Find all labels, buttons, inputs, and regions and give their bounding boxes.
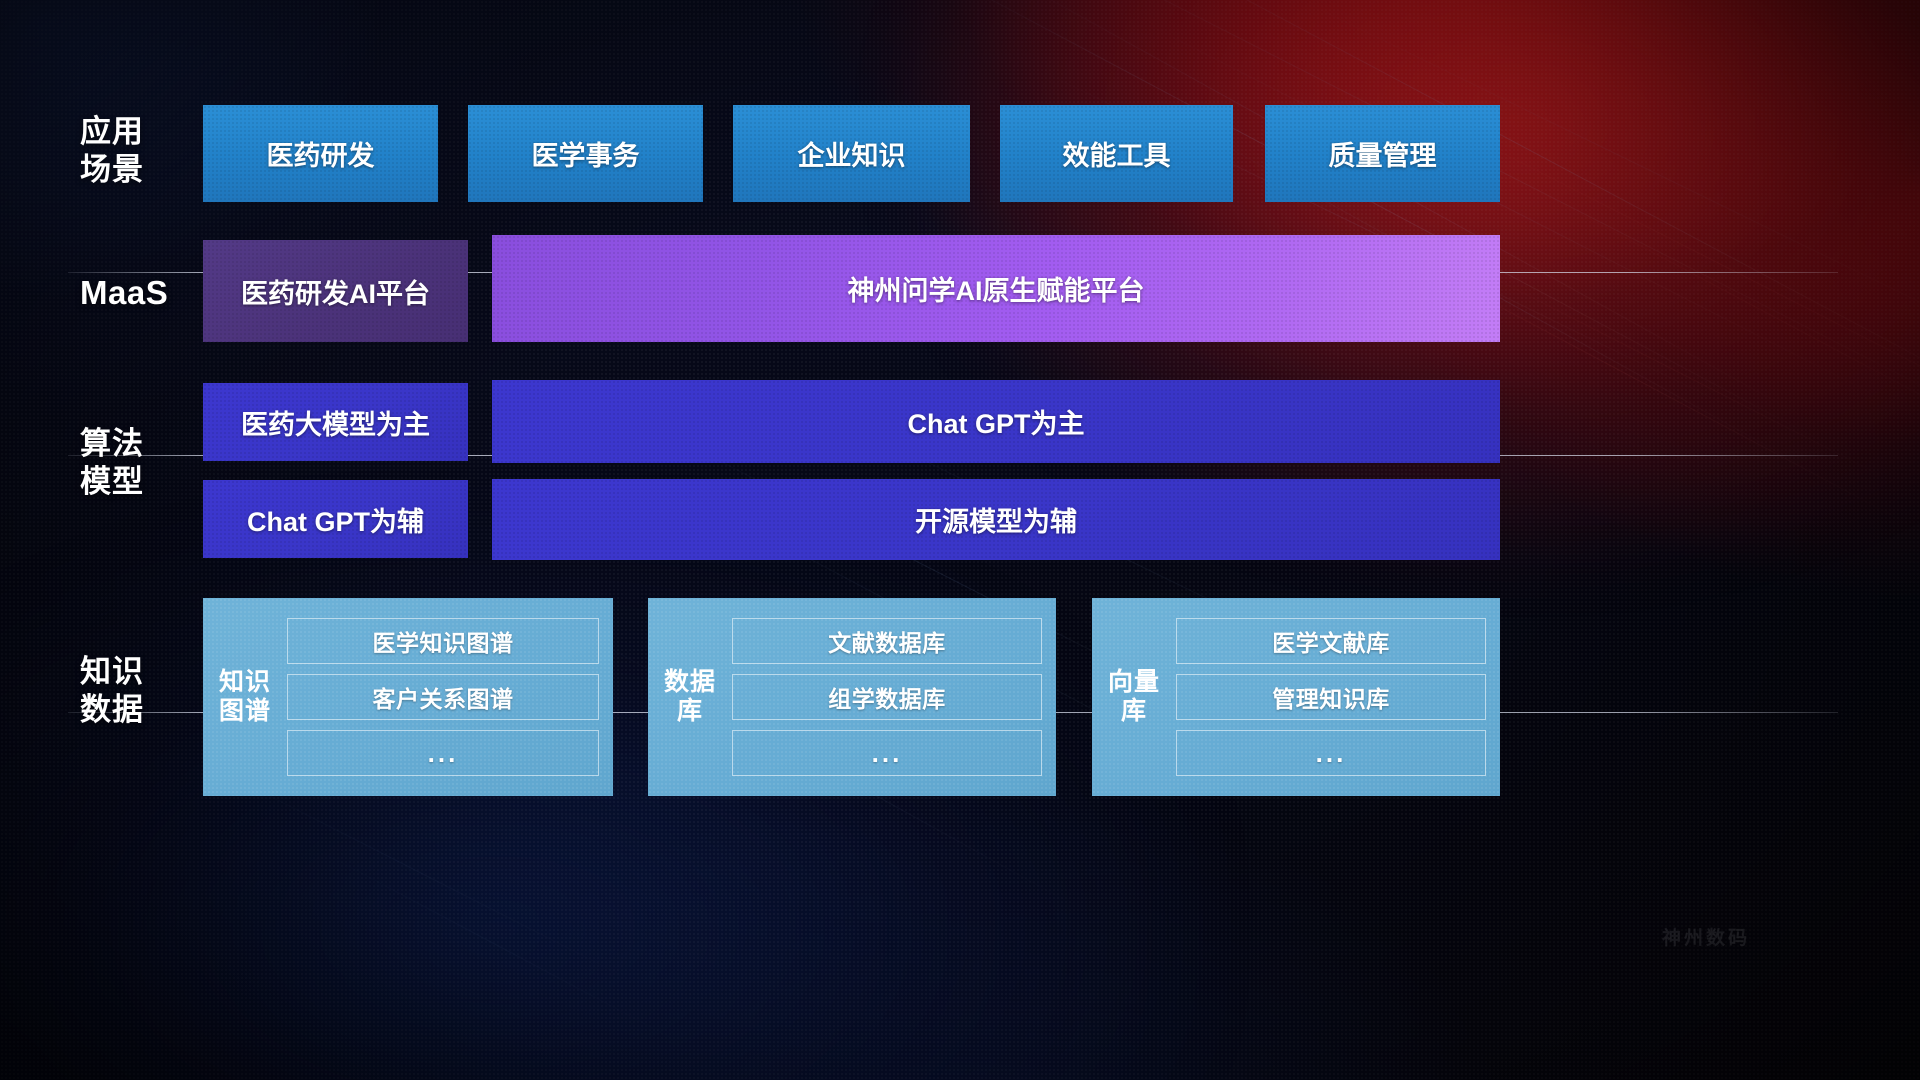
knowledge-item[interactable]: 组学数据库 [732,674,1042,720]
maas-platform-cell-shenzhou[interactable]: 神州问学AI原生赋能平台 [492,235,1500,342]
app-scenario-label: 医药研发 [267,134,375,173]
row-label-algorithm-models: 算法模型 [80,425,210,501]
app-scenario-cell-3[interactable]: 企业知识 [733,105,970,202]
knowledge-item[interactable]: 客户关系图谱 [287,674,599,720]
row-label-line: 模型 [80,463,210,501]
algo-cell-opensource-secondary[interactable]: 开源模型为辅 [492,479,1500,560]
knowledge-item-more[interactable]: ... [1176,730,1486,776]
knowledge-item-list: 文献数据库组学数据库... [726,598,1056,796]
knowledge-group-title: 数据库 [648,598,726,796]
algo-cell-chatgpt-secondary[interactable]: Chat GPT为辅 [203,480,468,558]
maas-platform-cell-medical[interactable]: 医药研发AI平台 [203,240,468,342]
architecture-diagram: 应用场景医药研发医学事务企业知识效能工具质量管理MaaS医药研发AI平台神州问学… [0,0,1920,1080]
knowledge-item-more[interactable]: ... [732,730,1042,776]
algo-cell-label: Chat GPT为辅 [247,500,424,539]
knowledge-item-list: 医学文献库管理知识库... [1170,598,1500,796]
row-label-maas: MaaS [80,273,210,313]
row-label-knowledge-data: 知识数据 [80,653,210,729]
maas-cell-label: 神州问学AI原生赋能平台 [848,269,1145,308]
knowledge-group-title: 知识图谱 [203,598,281,796]
maas-cell-label: 医药研发AI平台 [241,272,430,311]
row-label-line: 算法 [80,425,210,463]
row-label-line: 知识 [80,653,210,691]
knowledge-item[interactable]: 文献数据库 [732,618,1042,664]
app-scenario-label: 效能工具 [1063,134,1171,173]
row-label-line: 场景 [80,151,210,189]
app-scenario-label: 企业知识 [798,134,906,173]
app-scenario-label: 质量管理 [1329,134,1437,173]
knowledge-group-vector: 向量库医学文献库管理知识库... [1092,598,1500,796]
knowledge-item[interactable]: 医学知识图谱 [287,618,599,664]
knowledge-item[interactable]: 管理知识库 [1176,674,1486,720]
knowledge-group-database: 数据库文献数据库组学数据库... [648,598,1056,796]
row-label-line: 数据 [80,691,210,729]
app-scenario-cell-4[interactable]: 效能工具 [1000,105,1233,202]
algo-cell-chatgpt-primary[interactable]: Chat GPT为主 [492,380,1500,463]
app-scenario-label: 医学事务 [532,134,640,173]
row-label-application-scenarios: 应用场景 [80,113,210,189]
row-label-line: 应用 [80,113,210,151]
app-scenario-cell-1[interactable]: 医药研发 [203,105,438,202]
app-scenario-cell-2[interactable]: 医学事务 [468,105,703,202]
knowledge-item-more[interactable]: ... [287,730,599,776]
algo-cell-label: 开源模型为辅 [915,500,1077,539]
algo-cell-label: Chat GPT为主 [907,402,1084,441]
knowledge-item-list: 医学知识图谱客户关系图谱... [281,598,613,796]
algo-cell-label: 医药大模型为主 [241,403,430,442]
knowledge-group-graph: 知识图谱医学知识图谱客户关系图谱... [203,598,613,796]
app-scenario-cell-5[interactable]: 质量管理 [1265,105,1500,202]
knowledge-item[interactable]: 医学文献库 [1176,618,1486,664]
knowledge-group-title: 向量库 [1092,598,1170,796]
algo-cell-medical-primary[interactable]: 医药大模型为主 [203,383,468,461]
row-label-line: MaaS [80,273,210,313]
